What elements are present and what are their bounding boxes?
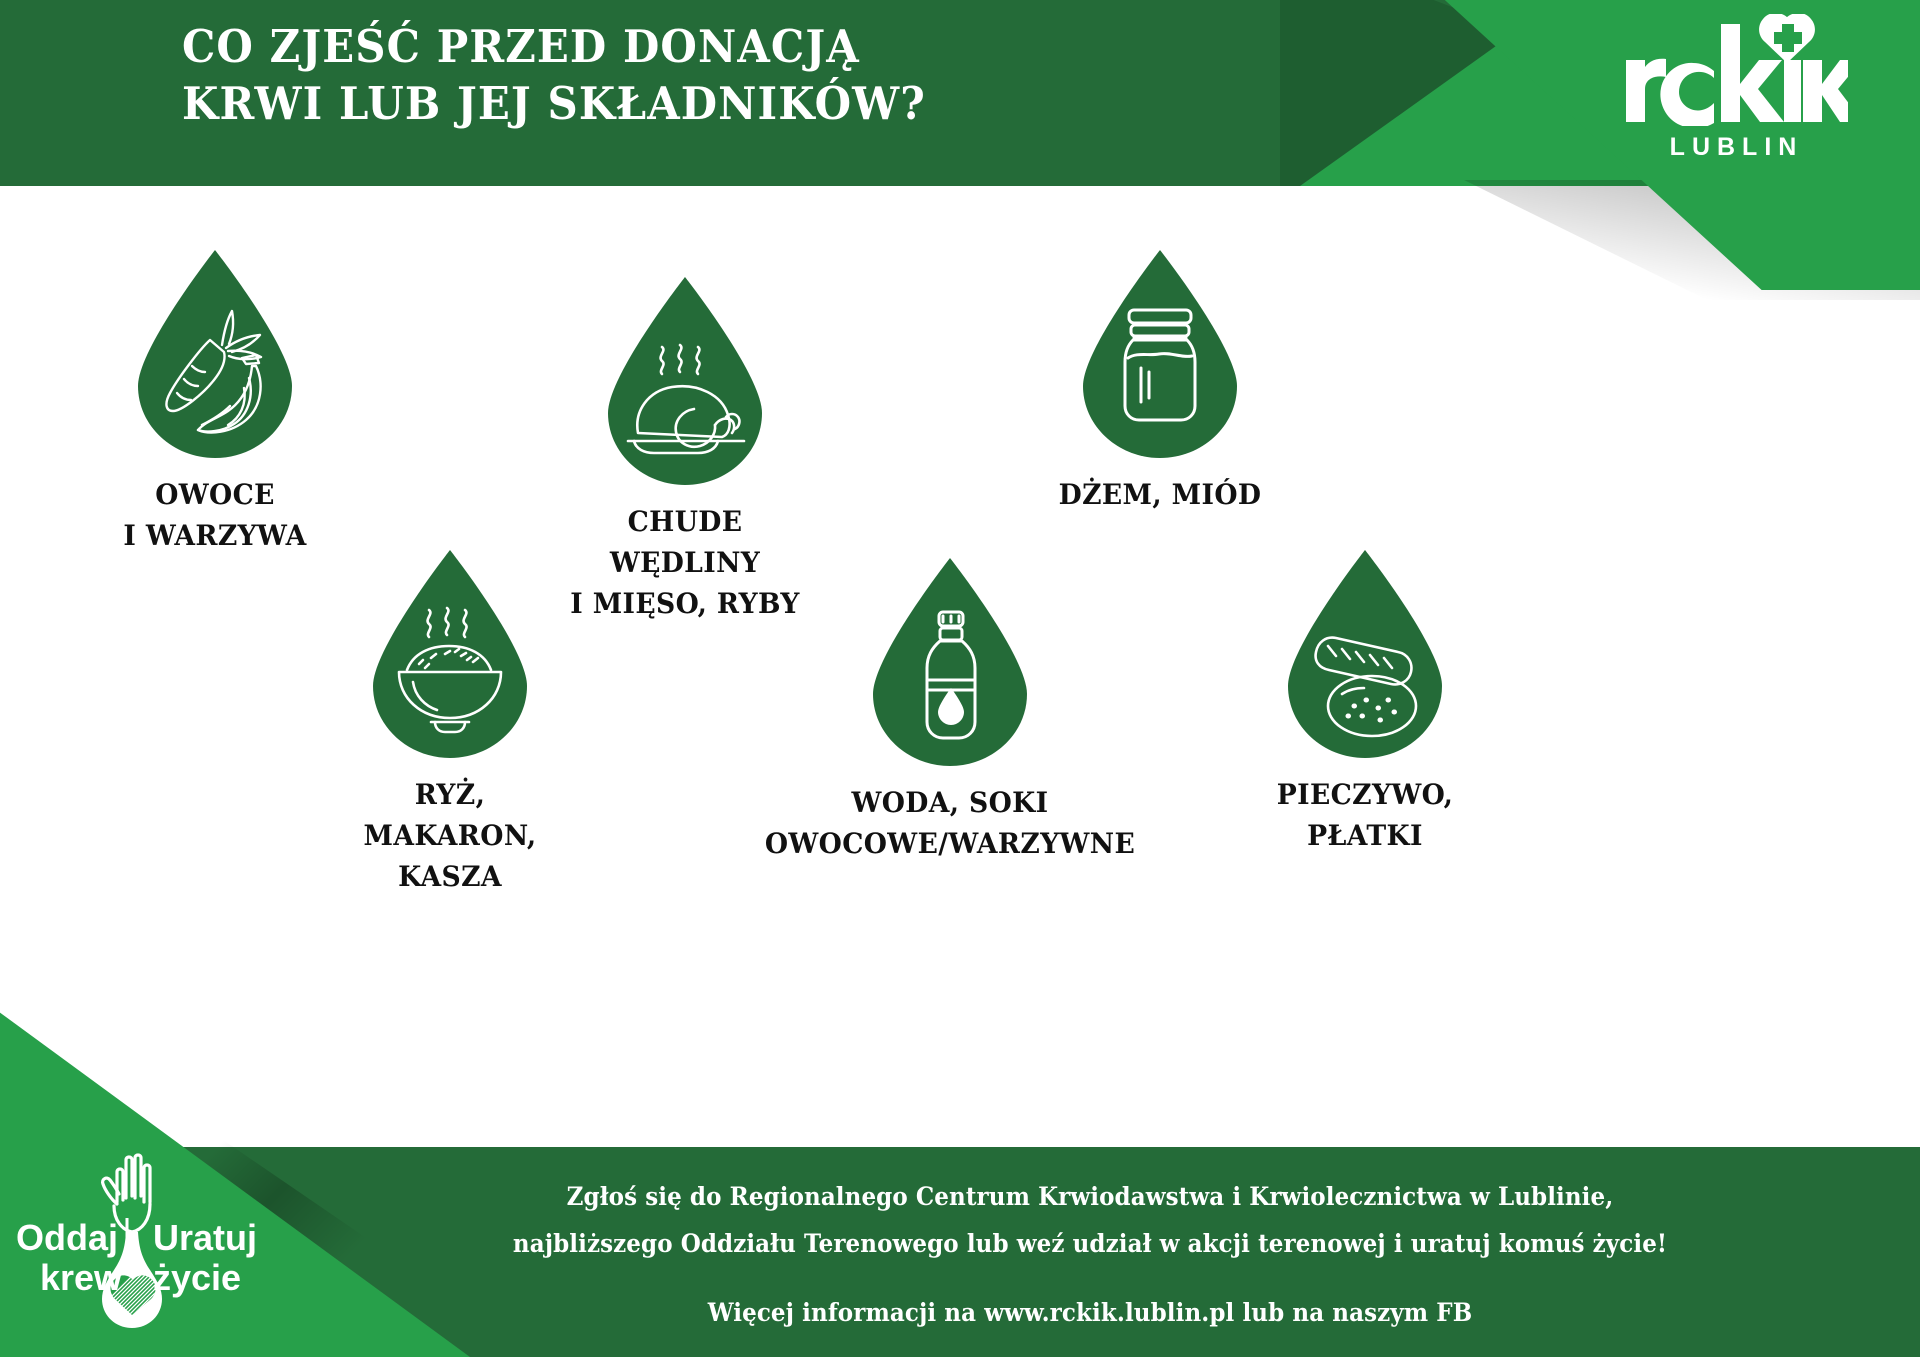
page-title: CO ZJEŚĆ PRZED DONACJĄ KRWI LUB JEJ SKŁA… bbox=[182, 18, 982, 132]
carrot-banana-icon bbox=[134, 248, 296, 460]
item-dzem-miod[interactable]: DŻEM, MIÓD bbox=[995, 248, 1325, 515]
item-label: WODA, SOKI OWOCOWE/WARZYWNE bbox=[751, 782, 1150, 864]
rckik-logo[interactable]: LUBLIN bbox=[1618, 14, 1848, 162]
footer-text-block: Zgłoś się do Regionalnego Centrum Krwiod… bbox=[330, 1173, 1850, 1336]
svg-text:Uratuj: Uratuj bbox=[153, 1217, 257, 1258]
footer-line-2: najbliższego Oddziału Terenowego lub weź… bbox=[391, 1220, 1789, 1267]
infographic-poster: CO ZJEŚĆ PRZED DONACJĄ KRWI LUB JEJ SKŁA… bbox=[0, 0, 1920, 1357]
droplet-shape bbox=[1284, 548, 1446, 760]
water-bottle-icon bbox=[869, 556, 1031, 768]
bread-icon bbox=[1284, 548, 1446, 760]
title-line-1: CO ZJEŚĆ PRZED DONACJĄ bbox=[182, 18, 926, 75]
rice-bowl-icon bbox=[369, 548, 531, 760]
droplet-shape bbox=[369, 548, 531, 760]
oddaj-krew-uratuj-zycie-icon: Oddaj Uratuj krew życie bbox=[8, 1144, 278, 1344]
item-owoce-i-warzywa[interactable]: OWOCE I WARZYWA bbox=[50, 248, 380, 556]
droplet-shape bbox=[604, 275, 766, 487]
campaign-logo[interactable]: Oddaj Uratuj krew życie bbox=[8, 1144, 278, 1349]
item-label: RYŻ, MAKARON, KASZA bbox=[293, 774, 607, 897]
jam-jar-icon bbox=[1079, 248, 1241, 460]
item-label: OWOCE I WARZYWA bbox=[58, 474, 372, 556]
item-woda-soki[interactable]: WODA, SOKI OWOCOWE/WARZYWNE bbox=[740, 556, 1160, 864]
svg-text:krew: krew bbox=[40, 1257, 123, 1298]
droplet-shape bbox=[134, 248, 296, 460]
droplet-shape bbox=[869, 556, 1031, 768]
droplet-shape bbox=[1079, 248, 1241, 460]
item-label: DŻEM, MIÓD bbox=[1003, 474, 1317, 515]
svg-text:Oddaj: Oddaj bbox=[16, 1217, 118, 1258]
footer-line-1: Zgłoś się do Regionalnego Centrum Krwiod… bbox=[391, 1173, 1789, 1220]
title-line-2: KRWI LUB JEJ SKŁADNIKÓW? bbox=[182, 75, 926, 132]
logo-city-label: LUBLIN bbox=[1618, 133, 1848, 162]
item-pieczywo-platki[interactable]: PIECZYWO, PŁATKI bbox=[1200, 548, 1530, 856]
item-ryz-makaron-kasza[interactable]: RYŻ, MAKARON, KASZA bbox=[285, 548, 615, 897]
item-label: PIECZYWO, PŁATKI bbox=[1208, 774, 1522, 856]
roast-chicken-icon bbox=[604, 275, 766, 487]
footer-line-3: Więcej informacji na www.rckik.lublin.pl… bbox=[391, 1289, 1789, 1336]
rckik-wordmark-icon bbox=[1618, 14, 1848, 126]
svg-text:życie: życie bbox=[153, 1257, 241, 1298]
